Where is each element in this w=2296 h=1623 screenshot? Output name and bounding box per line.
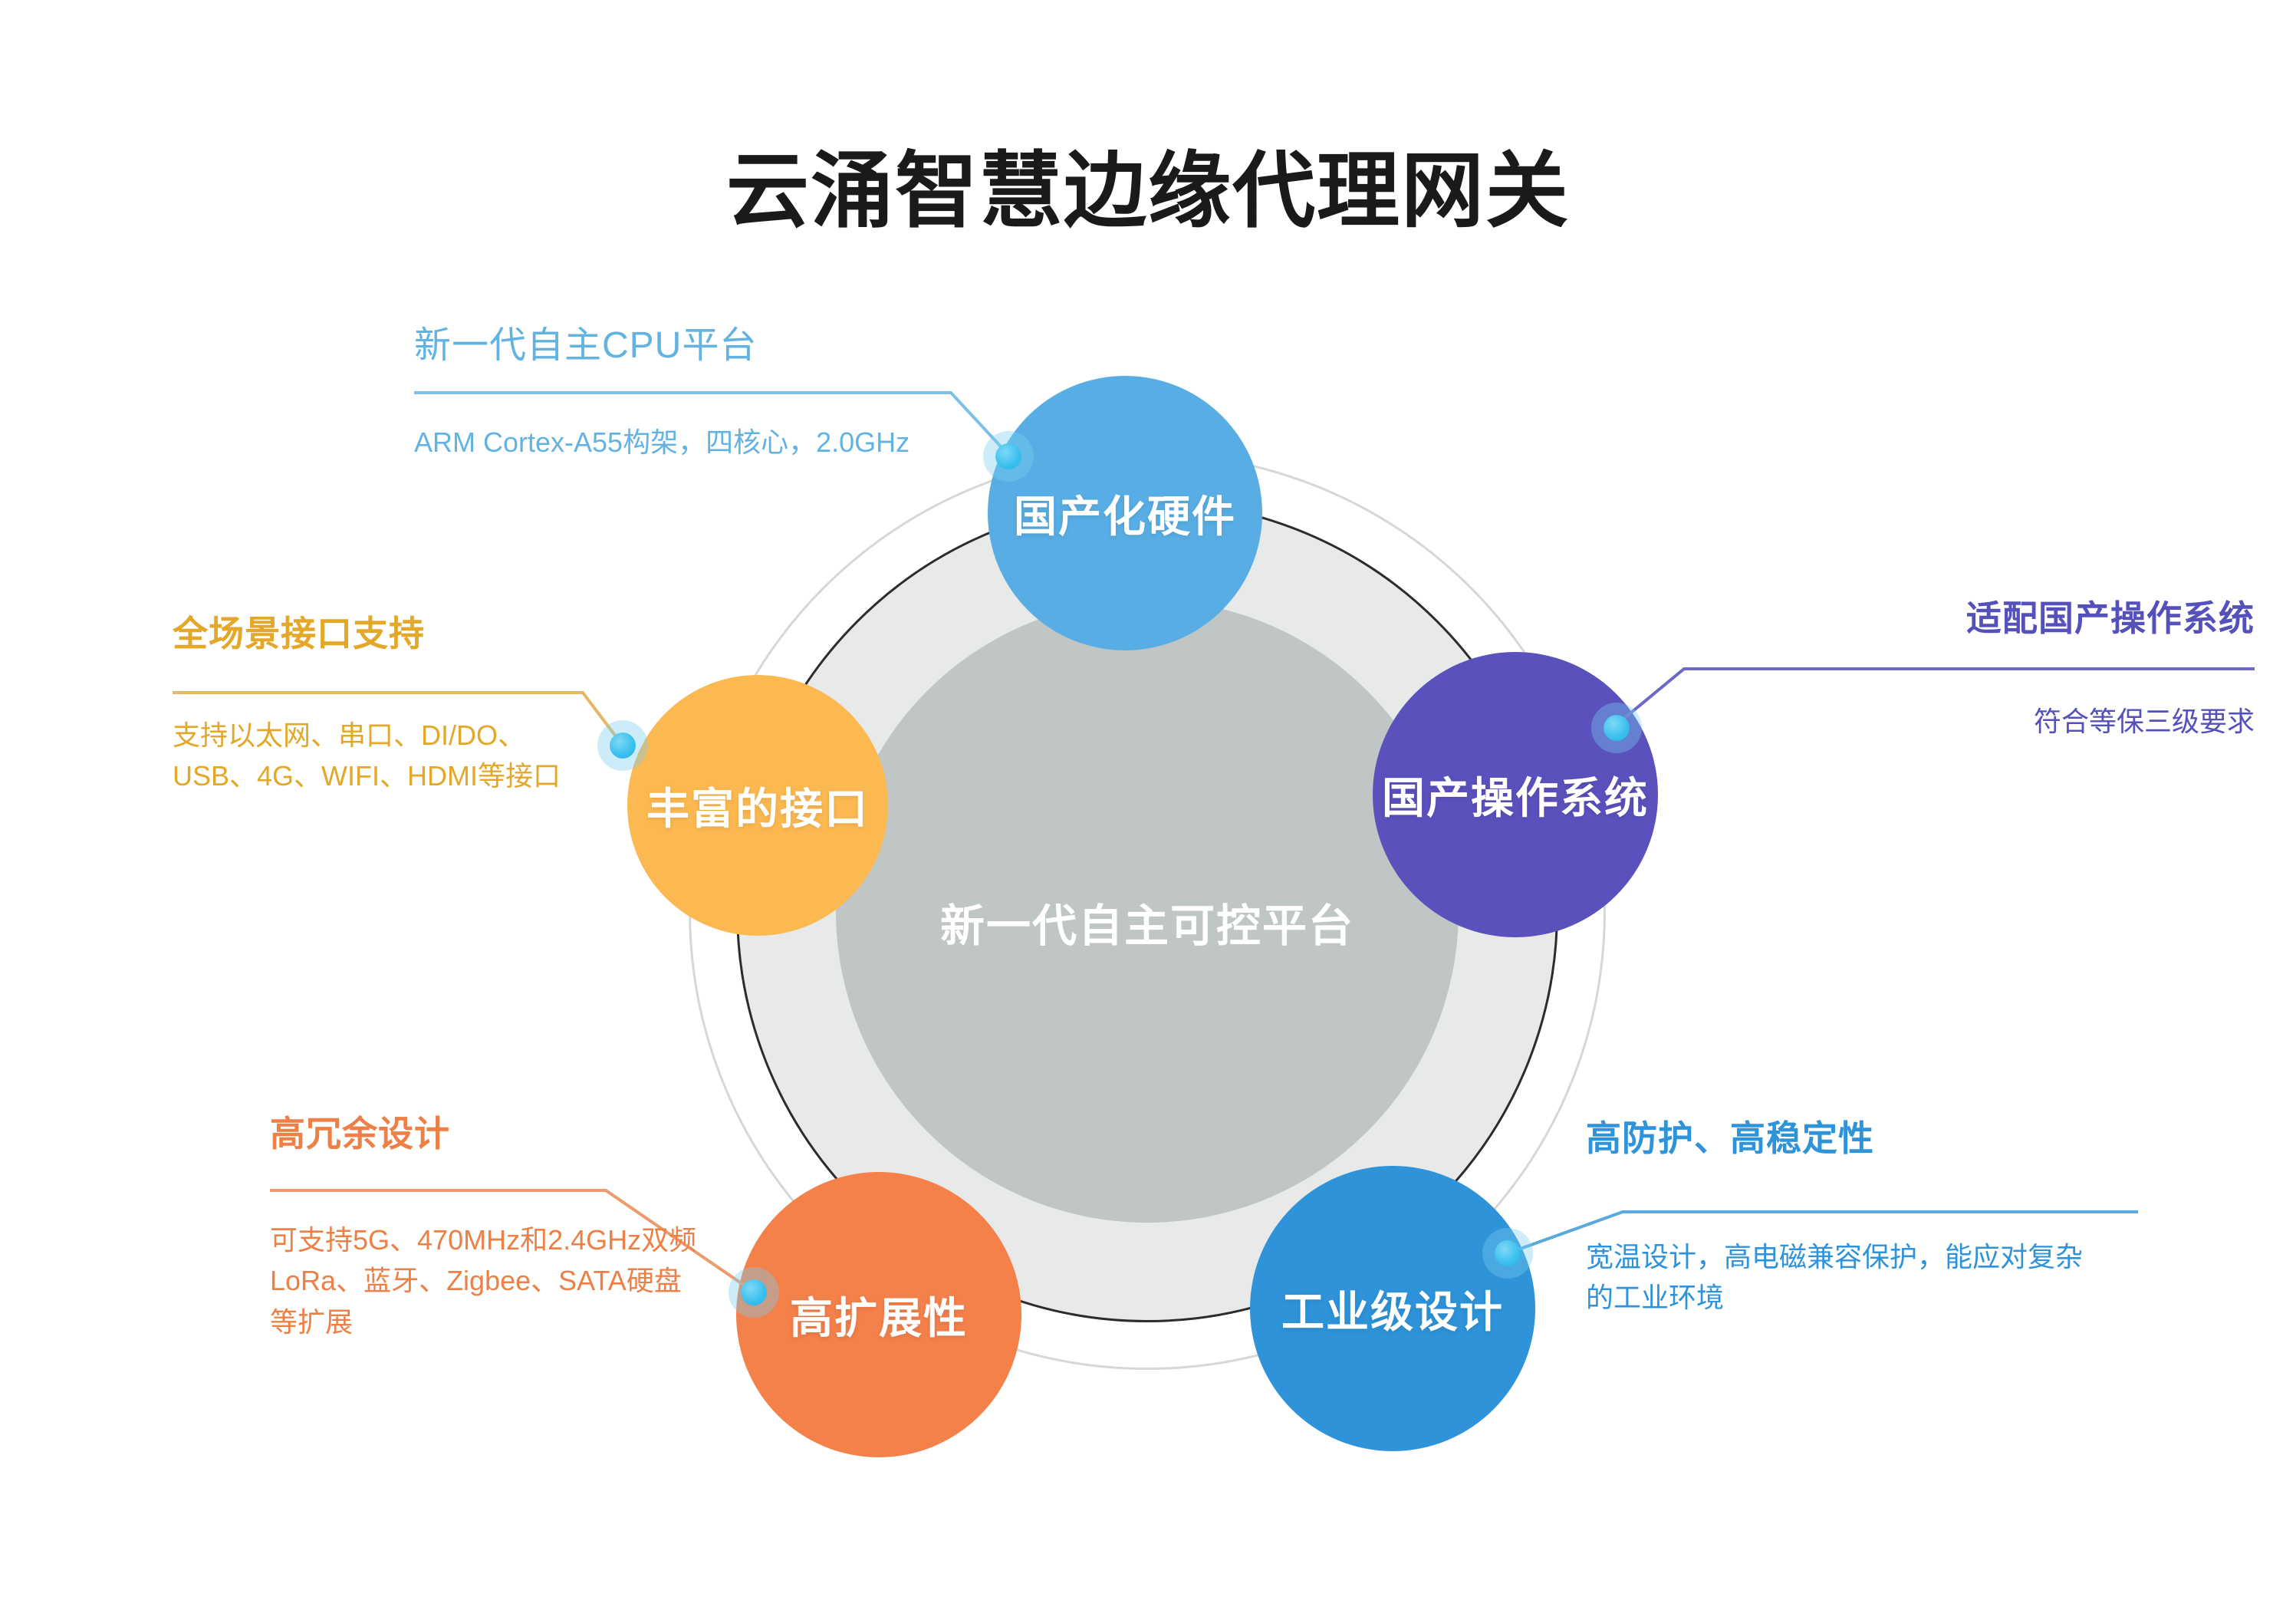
callout-domestic-os-support-body: 符合等保三级要求 bbox=[1718, 701, 2255, 742]
node-hardware[interactable]: 国产化硬件 bbox=[988, 376, 1262, 650]
node-rich-interfaces-label: 丰富的接口 bbox=[646, 775, 869, 837]
callout-redundancy-design-body: 可支持5G、470MHz和2.4GHz双频LoRa、蓝牙、Zigbee、SATA… bbox=[270, 1220, 745, 1342]
node-industrial-design[interactable]: 工业级设计 bbox=[1250, 1166, 1535, 1451]
core-label: 新一代自主可控平台 bbox=[836, 890, 1459, 954]
node-industrial-design-label: 工业级设计 bbox=[1281, 1278, 1504, 1340]
callout-protection-stability-title: 高防护、高稳定性 bbox=[1586, 1111, 2138, 1161]
node-high-scalability[interactable]: 高扩展性 bbox=[736, 1172, 1021, 1457]
marker-dot-hardware[interactable] bbox=[995, 443, 1021, 469]
callout-interface-support-title: 全场景接口支持 bbox=[173, 606, 648, 657]
infographic-canvas: 云涌智慧边缘代理网关 新一代自主可控平台 国产化硬件 国产操作系统 工业级设计 … bbox=[0, 0, 2296, 1623]
callout-interface-support-body: 支持以太网、串口、DI/DO、USB、4G、WIFI、HDMI等接口 bbox=[173, 715, 648, 797]
page-title: 云涌智慧边缘代理网关 bbox=[0, 146, 2296, 237]
marker-dot-domestic-os[interactable] bbox=[1604, 715, 1630, 741]
callout-cpu-platform-title: 新一代自主CPU平台 bbox=[414, 314, 997, 368]
node-high-scalability-label: 高扩展性 bbox=[790, 1284, 968, 1346]
node-domestic-os-label: 国产操作系统 bbox=[1382, 764, 1649, 826]
marker-dot-rich-interfaces[interactable] bbox=[610, 732, 636, 759]
node-rich-interfaces[interactable]: 丰富的接口 bbox=[627, 675, 888, 936]
callout-domestic-os-support-title: 适配国产操作系统 bbox=[1718, 591, 2255, 641]
callout-protection-stability: 高防护、高稳定性 宽温设计，高电磁兼容保护，能应对复杂的工业环境 bbox=[1586, 1111, 2138, 1318]
callout-redundancy-design-title: 高冗余设计 bbox=[270, 1106, 745, 1157]
callout-domestic-os-support: 适配国产操作系统 符合等保三级要求 bbox=[1718, 591, 2255, 742]
node-hardware-label: 国产化硬件 bbox=[1014, 482, 1236, 545]
marker-dot-industrial-design[interactable] bbox=[1495, 1240, 1521, 1266]
callout-protection-stability-body: 宽温设计，高电磁兼容保护，能应对复杂的工业环境 bbox=[1586, 1236, 2138, 1318]
marker-dot-high-scalability[interactable] bbox=[741, 1279, 767, 1305]
callout-interface-support: 全场景接口支持 支持以太网、串口、DI/DO、USB、4G、WIFI、HDMI等… bbox=[173, 606, 648, 797]
callout-cpu-platform: 新一代自主CPU平台 ARM Cortex-A55构架，四核心，2.0GHz bbox=[414, 314, 997, 463]
callout-redundancy-design: 高冗余设计 可支持5G、470MHz和2.4GHz双频LoRa、蓝牙、Zigbe… bbox=[270, 1106, 745, 1342]
node-domestic-os[interactable]: 国产操作系统 bbox=[1373, 652, 1658, 937]
callout-cpu-platform-body: ARM Cortex-A55构架，四核心，2.0GHz bbox=[414, 422, 997, 463]
